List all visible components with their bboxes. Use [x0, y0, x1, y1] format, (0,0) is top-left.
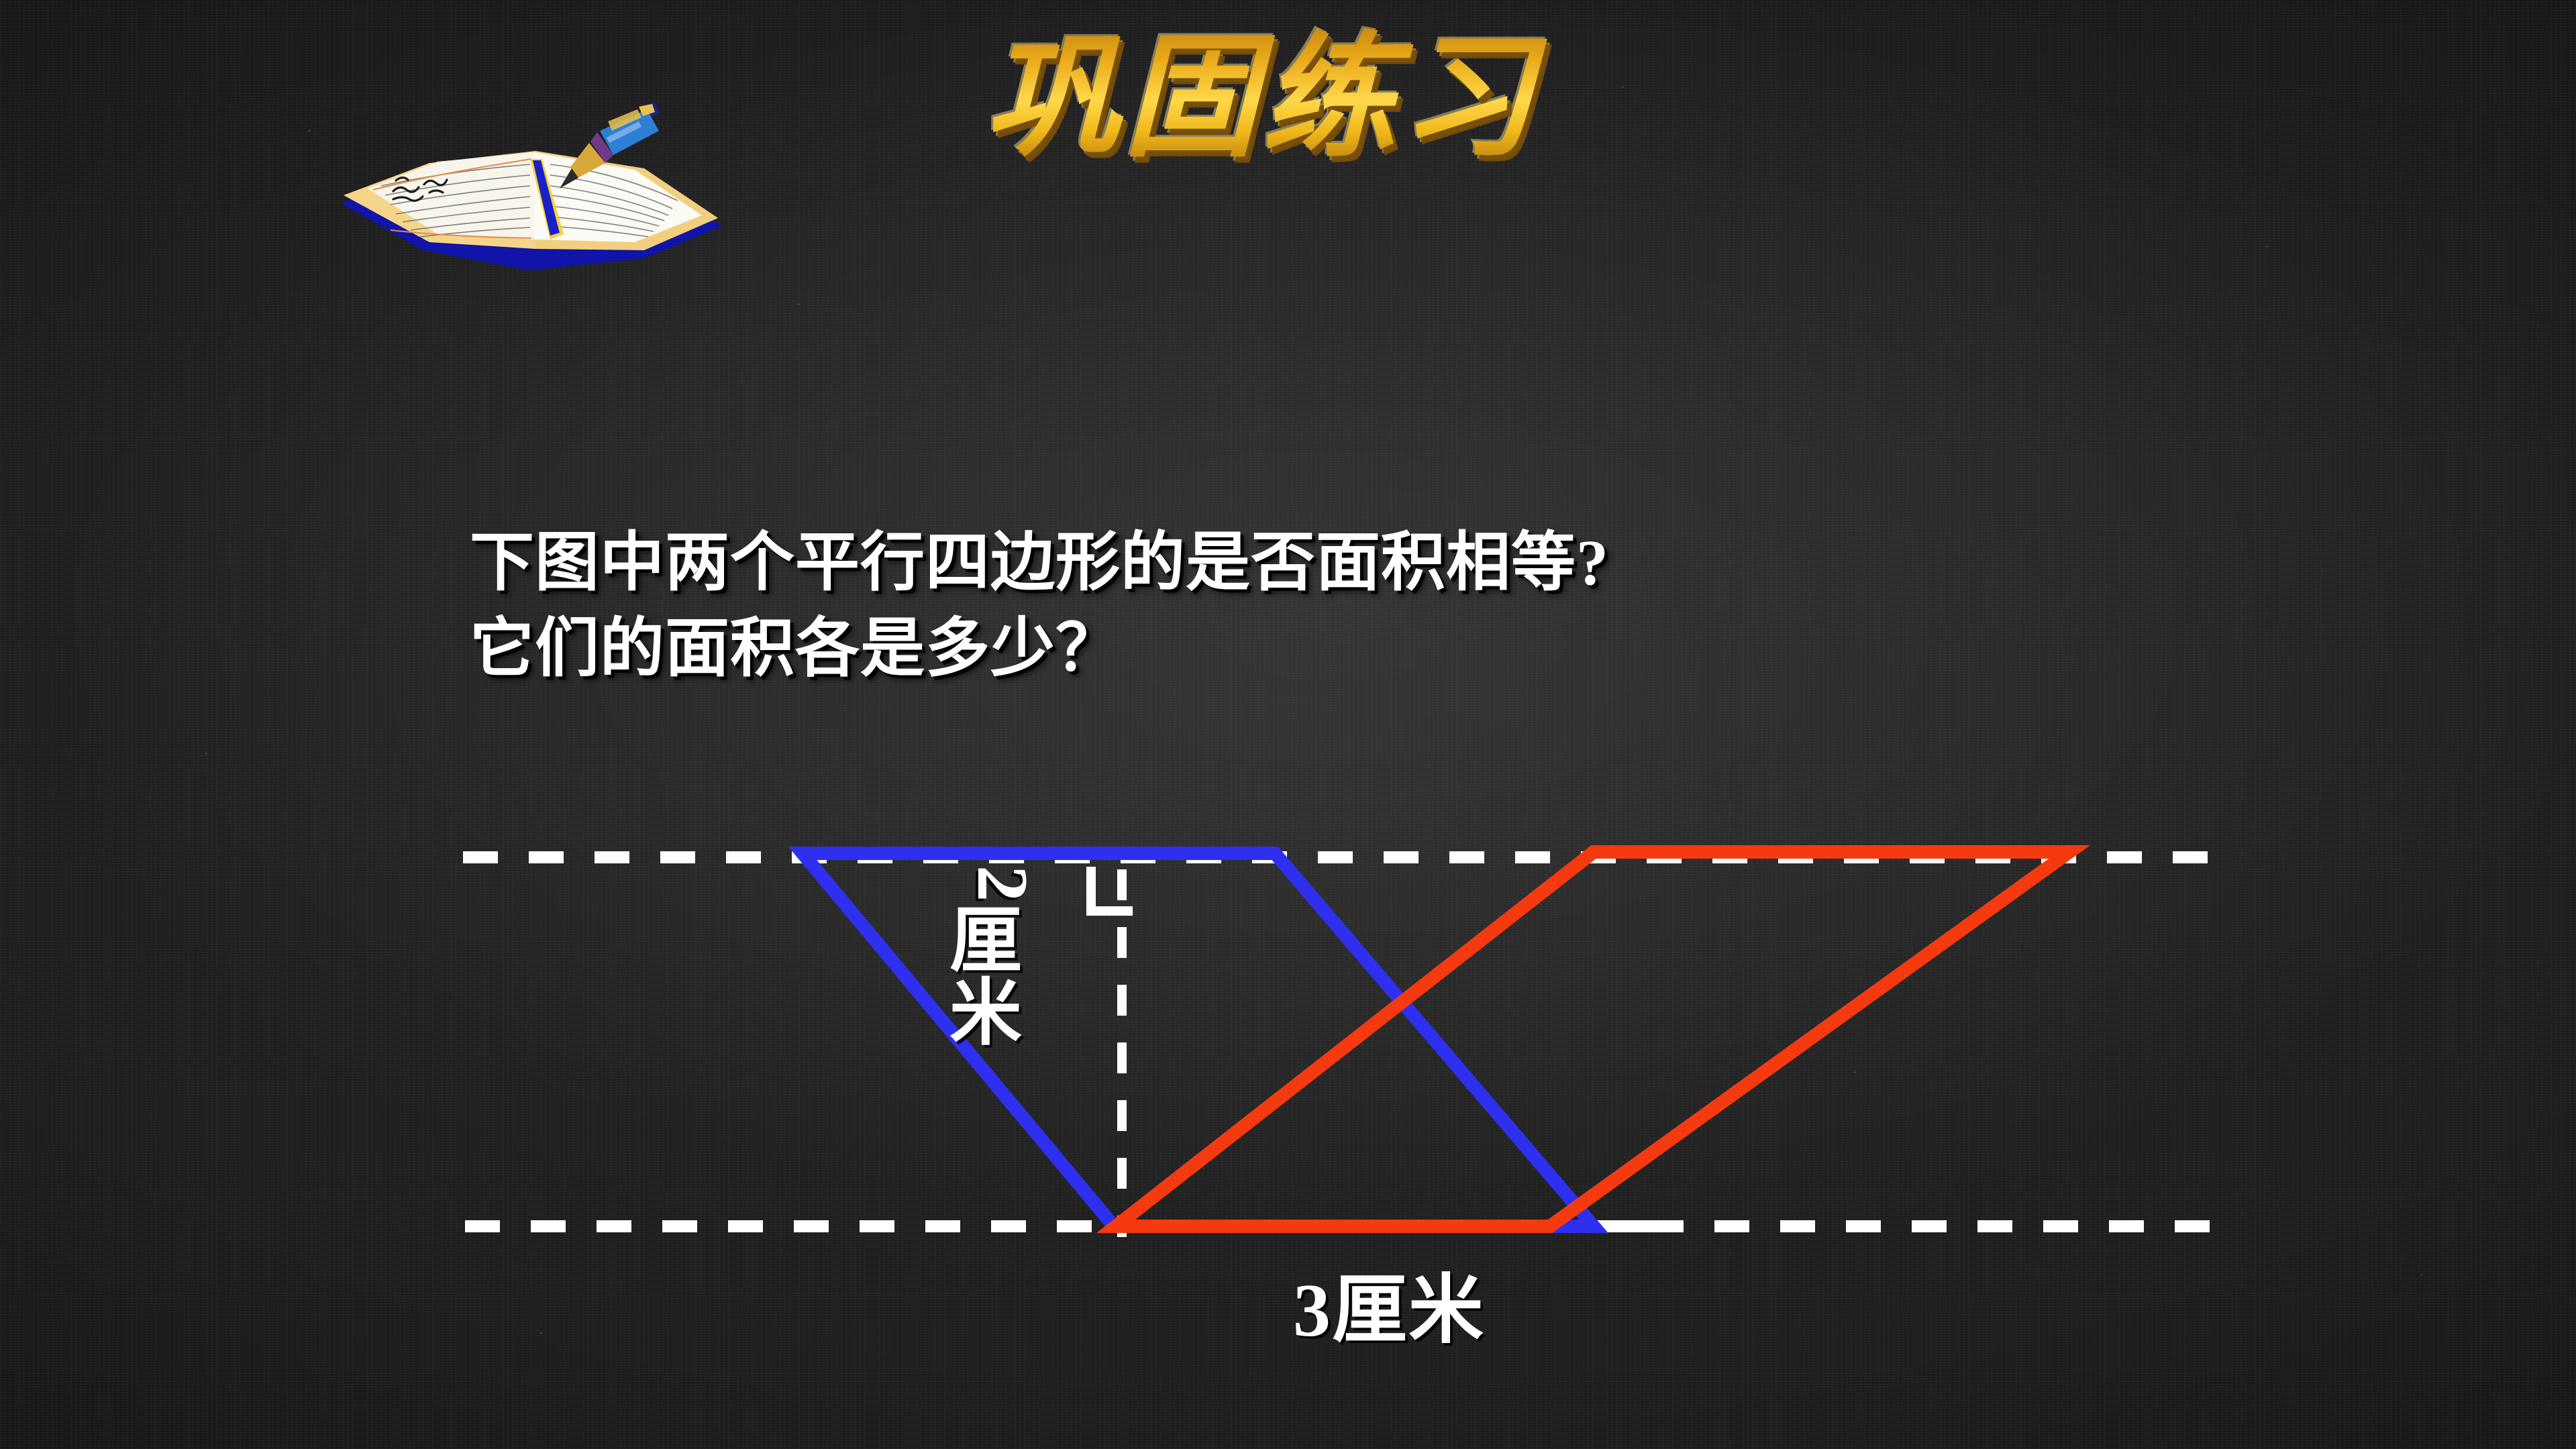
slide-canvas: 巩固练习 下图中两个平行四边形的是否面积相等? 它们的面积各是多少？ 2厘米 3…: [0, 0, 2576, 1449]
height-label-number: 2: [965, 865, 1039, 902]
base-label: 3厘米: [1154, 1249, 1624, 1358]
height-label: 2厘米: [945, 865, 1039, 1046]
height-label-unit: 厘米: [939, 902, 1019, 1046]
red-parallelogram: [1116, 852, 2069, 1226]
geometry-figure: [0, 0, 2576, 1449]
